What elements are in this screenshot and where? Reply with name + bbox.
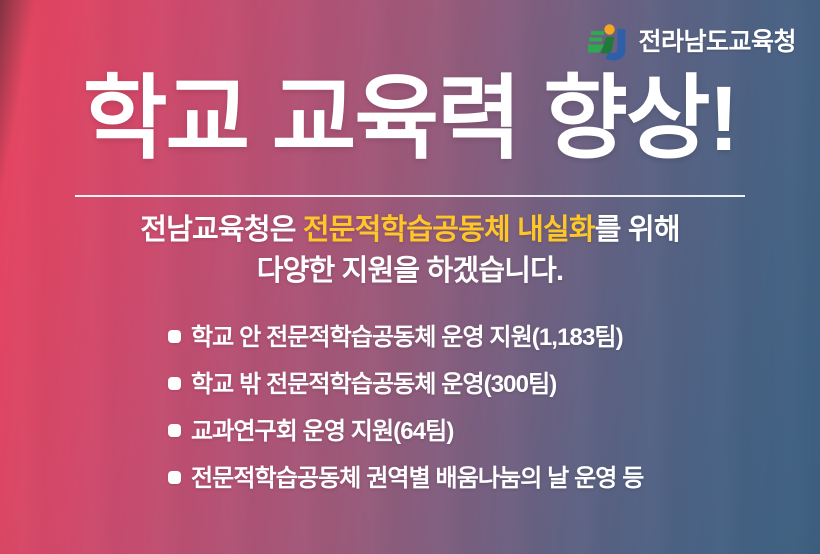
- list-item-label: 교과연구회 운영 지원(64팀): [191, 420, 453, 444]
- subtitle-highlight: 전문적학습공동체 내실화: [303, 214, 595, 246]
- list-item-label: 전문적학습공동체 권역별 배움나눔의 날 운영 등: [191, 467, 643, 491]
- bullet-dot-icon: [168, 330, 181, 343]
- list-item: 전문적학습공동체 권역별 배움나눔의 날 운영 등: [168, 467, 768, 514]
- page-title: 학교 교육력 향상!: [0, 70, 820, 169]
- list-item: 학교 밖 전문적학습공동체 운영(300팀): [168, 373, 768, 420]
- bullet-list: 학교 안 전문적학습공동체 운영 지원(1,183팀) 학교 밖 전문적학습공동…: [168, 326, 768, 514]
- subtitle: 전남교육청은 전문적학습공동체 내실화를 위해 다양한 지원을 하겠습니다.: [0, 210, 820, 292]
- organization-name: 전라남도교육청: [638, 30, 796, 55]
- list-item: 교과연구회 운영 지원(64팀): [168, 420, 768, 467]
- organization-logo: 전라남도교육청: [587, 22, 796, 62]
- subtitle-text-before: 전남교육청은: [140, 214, 303, 246]
- subtitle-line-1: 전남교육청은 전문적학습공동체 내실화를 위해: [0, 210, 820, 251]
- bullet-dot-icon: [168, 471, 181, 484]
- list-item-label: 학교 밖 전문적학습공동체 운영(300팀): [191, 373, 556, 397]
- promotional-poster: 전라남도교육청 학교 교육력 향상! 전남교육청은 전문적학습공동체 내실화를 …: [0, 0, 820, 554]
- subtitle-line-2: 다양한 지원을 하겠습니다.: [0, 251, 820, 292]
- bullet-dot-icon: [168, 424, 181, 437]
- list-item-label: 학교 안 전문적학습공동체 운영 지원(1,183팀): [191, 326, 623, 350]
- subtitle-text-after: 를 위해: [595, 214, 680, 246]
- jeonnam-education-office-logo-icon: [587, 22, 629, 62]
- bullet-dot-icon: [168, 377, 181, 390]
- list-item: 학교 안 전문적학습공동체 운영 지원(1,183팀): [168, 326, 768, 373]
- divider: [75, 195, 745, 197]
